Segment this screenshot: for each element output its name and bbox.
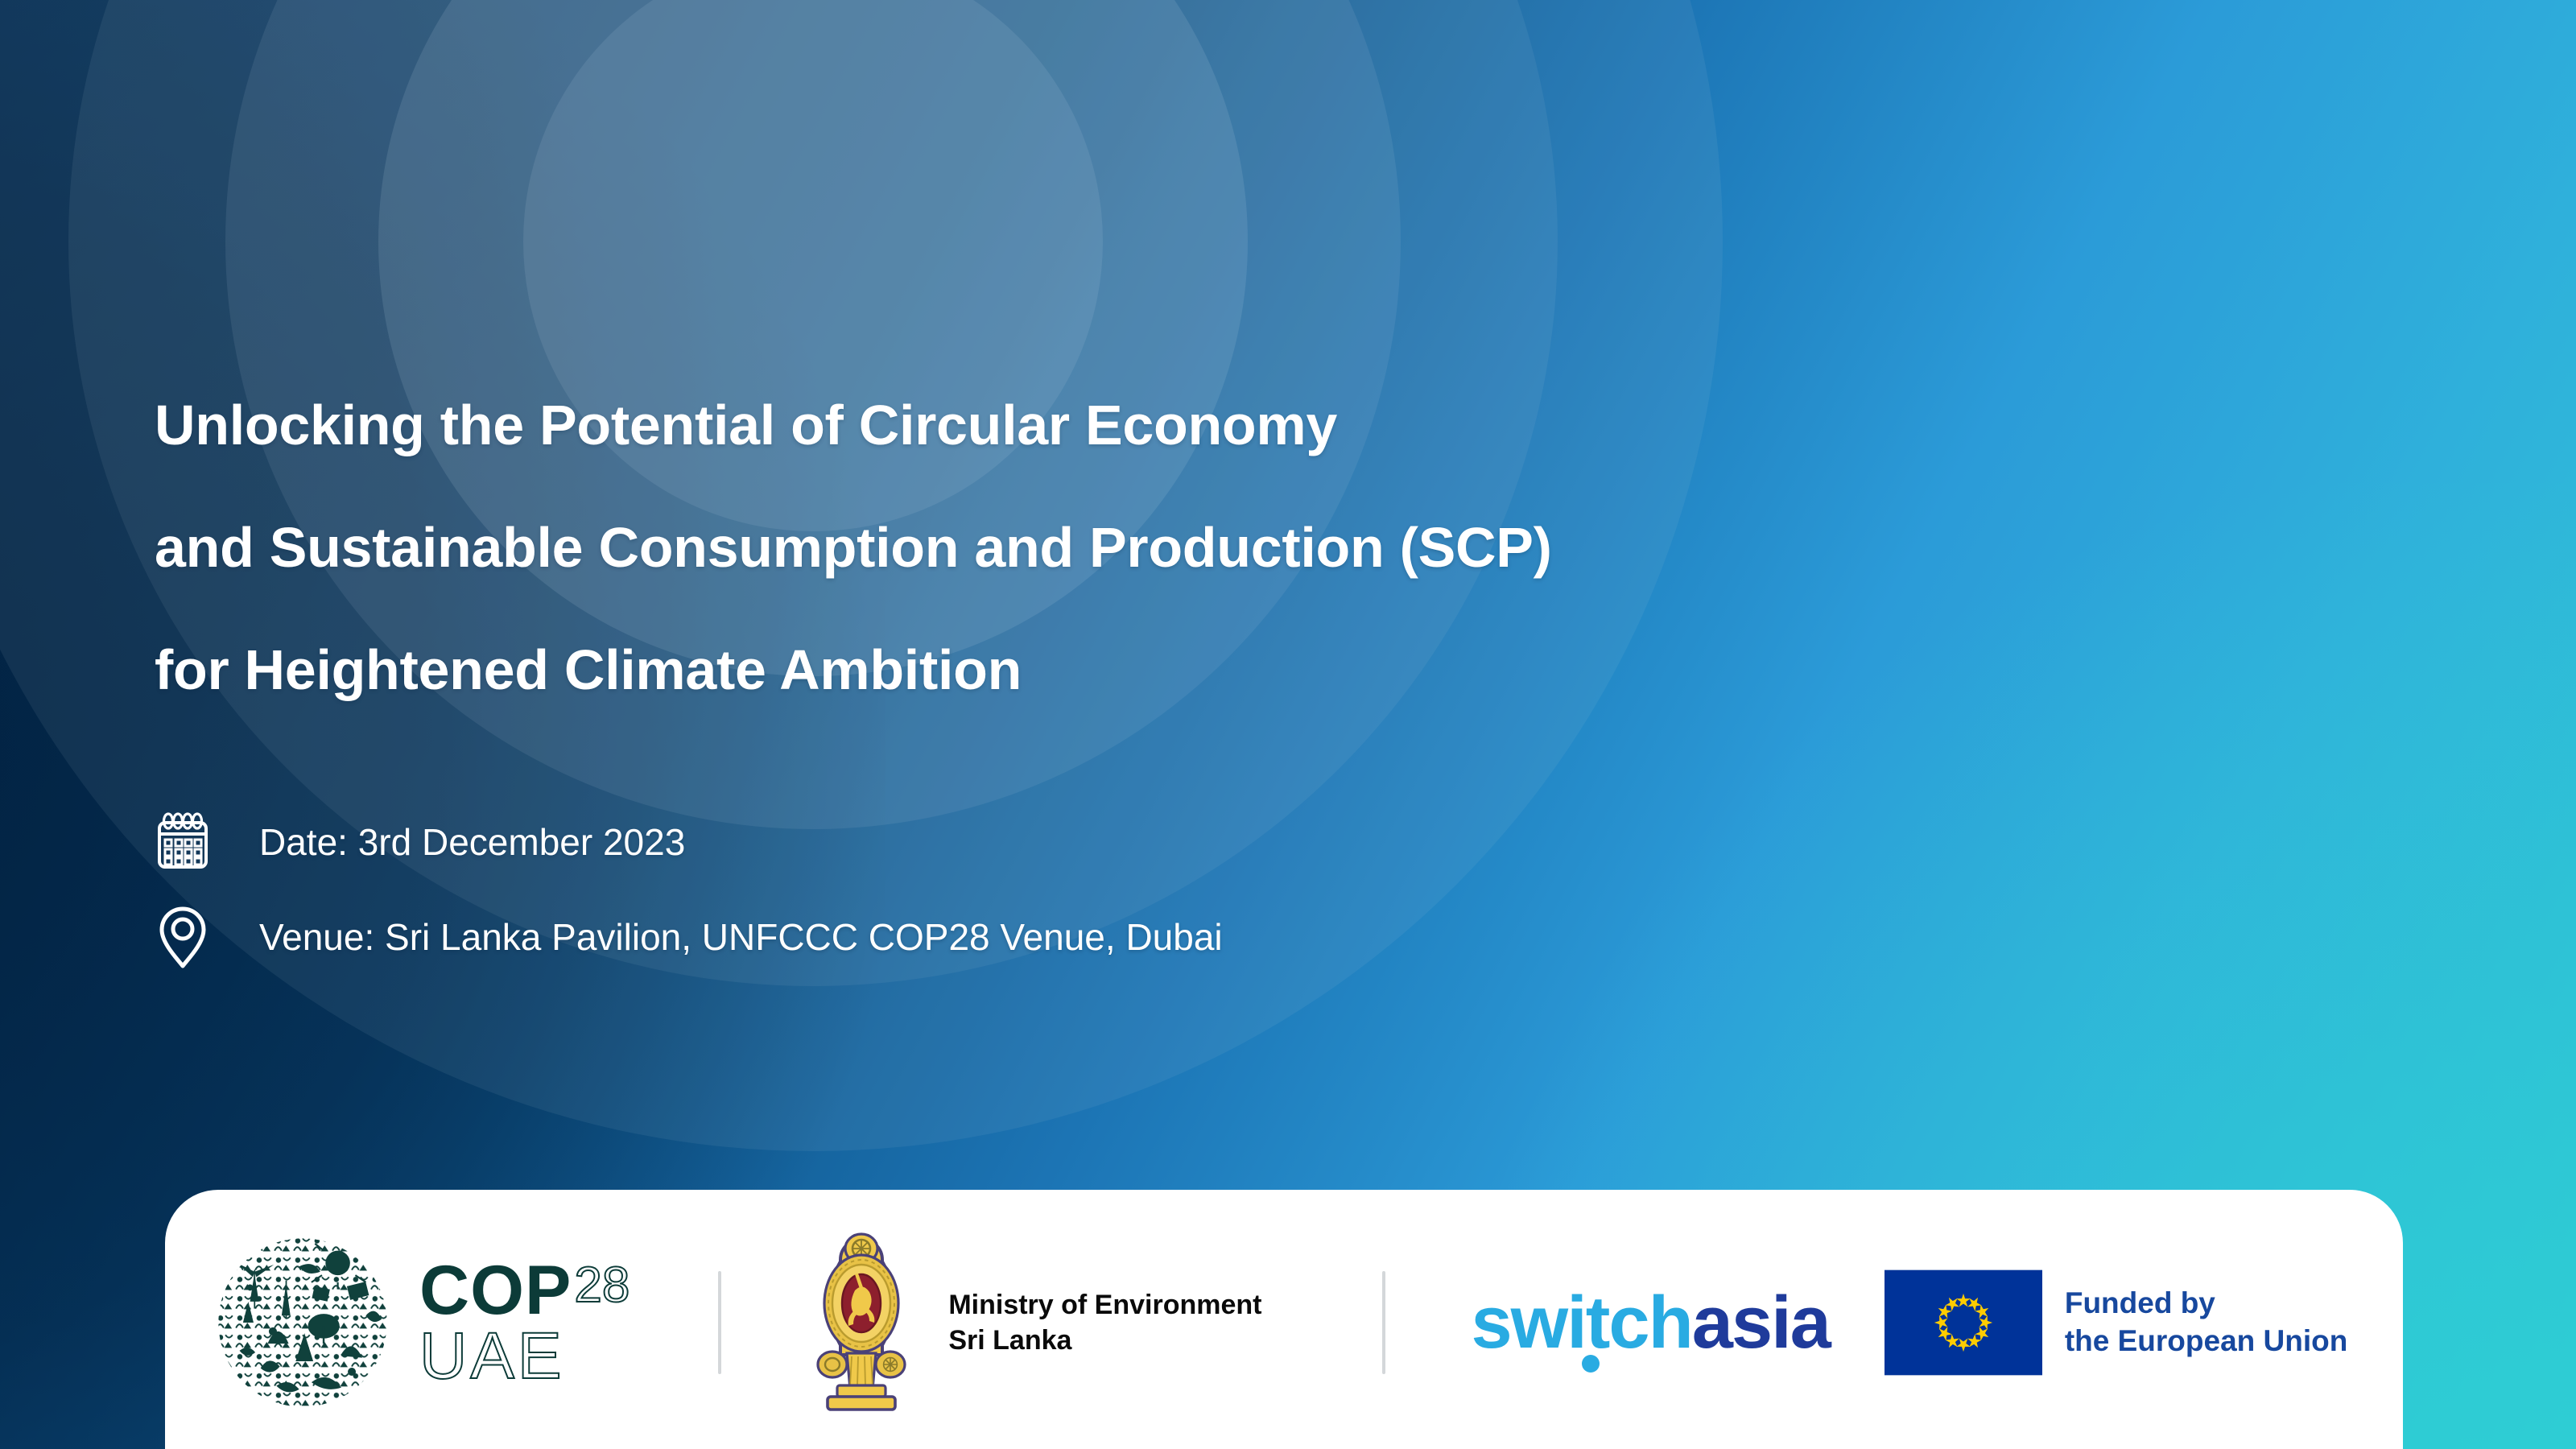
- event-details: Date: 3rd December 2023 Venue: Sri Lanka…: [153, 805, 1223, 974]
- ministry-line-2: Sri Lanka: [948, 1323, 1261, 1358]
- logo-divider-2: [1382, 1271, 1385, 1374]
- event-venue-row: Venue: Sri Lanka Pavilion, UNFCCC COP28 …: [153, 900, 1223, 974]
- switchasia-part-2: asia: [1692, 1282, 1830, 1364]
- title-line-2: and Sustainable Consumption and Producti…: [155, 486, 2006, 609]
- logo-ministry-of-environment: Ministry of Environment Sri Lanka: [802, 1190, 1261, 1449]
- cop28-main-text: COP: [419, 1259, 572, 1323]
- logo-cop28: COP 28 UAE: [215, 1190, 630, 1449]
- sri-lanka-national-emblem-icon: [802, 1228, 921, 1418]
- eu-flag-icon: [1885, 1269, 2042, 1376]
- title-line-3: for Heightened Climate Ambition: [155, 609, 2006, 731]
- partner-logo-bar: COP 28 UAE: [165, 1190, 2403, 1449]
- event-title: Unlocking the Potential of Circular Econ…: [155, 364, 2006, 731]
- cop28-wordmark: COP 28 UAE: [419, 1259, 630, 1387]
- event-date-row: Date: 3rd December 2023: [153, 805, 1223, 879]
- switchasia-part-1: switch: [1471, 1282, 1691, 1364]
- event-date-text: Date: 3rd December 2023: [259, 820, 685, 864]
- ministry-line-1: Ministry of Environment: [948, 1287, 1261, 1323]
- switchasia-dot-icon: [1582, 1355, 1600, 1373]
- cop28-nature-circle-icon: [215, 1235, 390, 1410]
- logo-european-union: Funded by the European Union: [1885, 1190, 2348, 1449]
- location-pin-icon: [153, 906, 213, 968]
- title-line-1: Unlocking the Potential of Circular Econ…: [155, 364, 2006, 486]
- event-venue-text: Venue: Sri Lanka Pavilion, UNFCCC COP28 …: [259, 915, 1223, 959]
- switchasia-wordmark: switchasia: [1471, 1281, 1829, 1365]
- eu-funding-wordmark: Funded by the European Union: [2065, 1285, 2348, 1360]
- logo-divider-1: [718, 1271, 721, 1374]
- eu-line-2: the European Union: [2065, 1323, 2348, 1360]
- cop28-number-text: 28: [574, 1262, 630, 1308]
- eu-line-1: Funded by: [2065, 1285, 2348, 1323]
- cop28-country-text: UAE: [419, 1326, 630, 1386]
- calendar-icon: [153, 811, 213, 873]
- logo-switchasia: switchasia: [1471, 1190, 1829, 1449]
- poster-canvas: Unlocking the Potential of Circular Econ…: [0, 0, 2576, 1449]
- ministry-wordmark: Ministry of Environment Sri Lanka: [948, 1287, 1261, 1358]
